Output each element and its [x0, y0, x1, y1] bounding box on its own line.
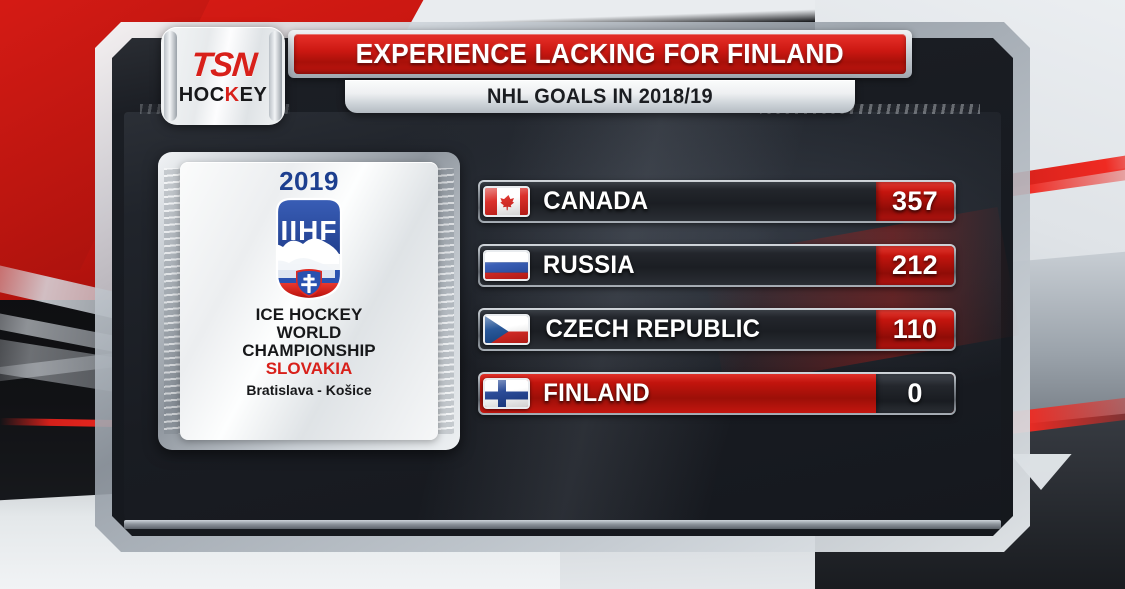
- svg-text:IIHF: IIHF: [281, 215, 338, 246]
- tsn-hockey-label: HOCKEY: [179, 85, 268, 105]
- frame-ridges-left: [164, 168, 180, 434]
- frame-ridges-right: [438, 168, 454, 434]
- goal-value: 0: [876, 374, 954, 413]
- country-label: FINLAND: [543, 379, 650, 408]
- row-bar: CANADA 357: [480, 182, 954, 221]
- tsn-hockey-suffix: EY: [240, 84, 268, 106]
- tournament-title: ICE HOCKEY WORLD CHAMPIONSHIP: [242, 306, 375, 359]
- tsn-wordmark: TSN: [189, 48, 258, 82]
- row-bar: RUSSIA 212: [480, 246, 954, 285]
- tsn-hockey-prefix: HOC: [179, 84, 225, 106]
- iihf-shield-icon: IIHF: [267, 196, 351, 302]
- subtitle-text: NHL GOALS IN 2018/19: [487, 85, 713, 109]
- stat-rows: CANADA 357 RUSSIA 212: [478, 180, 956, 436]
- country-label: CZECH REPUBLIC: [545, 315, 760, 344]
- flag-sheen: [485, 188, 528, 215]
- goal-value-text: 110: [893, 314, 937, 345]
- table-row[interactable]: CZECH REPUBLIC 110: [478, 308, 956, 351]
- goal-value-text: 357: [892, 186, 938, 217]
- goal-value-text: 0: [907, 378, 922, 409]
- tsn-hockey-logo: TSN HOCKEY: [161, 27, 285, 125]
- row-bar: CZECH REPUBLIC 110: [480, 310, 954, 349]
- russia-flag-icon: [483, 250, 530, 281]
- broadcast-graphic: TSN HOCKEY EXPERIENCE LACKING FOR FINLAN…: [0, 0, 1125, 589]
- czech-republic-flag-icon: [483, 314, 530, 345]
- tournament-title-line1: ICE HOCKEY: [242, 306, 375, 324]
- headline-text: EXPERIENCE LACKING FOR FINLAND: [356, 38, 844, 70]
- flag-sheen: [485, 252, 528, 279]
- table-row[interactable]: RUSSIA 212: [478, 244, 956, 287]
- panel-bottom-edge: [124, 520, 1001, 529]
- tournament-cities: Bratislava - Košice: [246, 383, 371, 398]
- tournament-title-line2: WORLD: [242, 324, 375, 342]
- tournament-country: SLOVAKIA: [266, 360, 353, 379]
- tsn-hockey-accent: K: [225, 84, 240, 106]
- subtitle-bar: NHL GOALS IN 2018/19: [345, 80, 855, 113]
- row-bar: FINLAND 0: [480, 374, 954, 413]
- goal-value-text: 212: [892, 250, 938, 281]
- country-label: CANADA: [543, 187, 648, 216]
- finland-flag-icon: [483, 378, 530, 409]
- headline-banner: EXPERIENCE LACKING FOR FINLAND: [294, 34, 906, 74]
- goal-value: 357: [876, 182, 954, 221]
- goal-value: 212: [876, 246, 954, 285]
- tournament-title-line3: CHAMPIONSHIP: [242, 342, 375, 360]
- table-row[interactable]: CANADA 357: [478, 180, 956, 223]
- tournament-year: 2019: [279, 168, 339, 195]
- country-label: RUSSIA: [543, 251, 635, 280]
- canada-flag-icon: [483, 186, 530, 217]
- flag-sheen: [485, 316, 528, 343]
- tournament-logo-card: 2019: [180, 162, 438, 440]
- flag-sheen: [485, 380, 528, 407]
- table-row[interactable]: FINLAND 0: [478, 372, 956, 415]
- goal-value: 110: [876, 310, 954, 349]
